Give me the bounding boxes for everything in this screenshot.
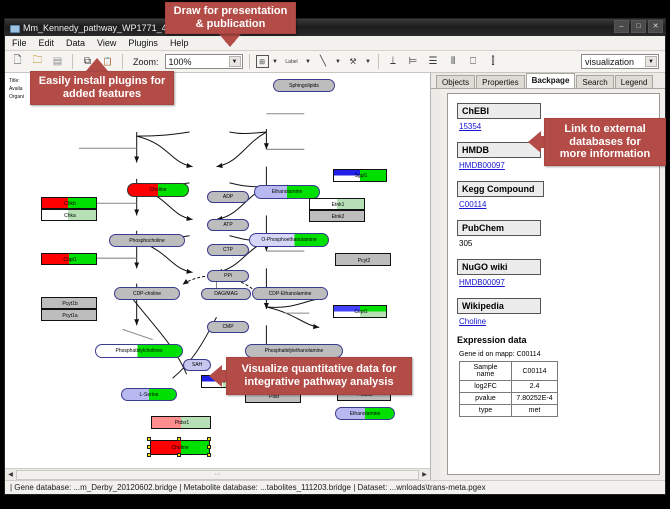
table-row: log2FC 2.4: [460, 381, 558, 393]
backpage-header-pubchem: PubChem: [457, 220, 541, 236]
backpage-header-kegg: Kegg Compound: [457, 181, 544, 197]
backpage-link-kegg[interactable]: C00114: [459, 200, 659, 209]
menu-edit[interactable]: Edit: [37, 38, 57, 48]
selection-handle[interactable]: [177, 437, 181, 441]
title-bar: Mm_Kennedy_pathway_WP1771_45176.gpml – □…: [5, 19, 665, 36]
gene-label: Cept1: [334, 309, 387, 315]
data-node-icon[interactable]: ⊞: [256, 55, 269, 68]
maximize-button[interactable]: □: [631, 20, 646, 33]
backpage-header-chebi: ChEBI: [457, 103, 541, 119]
cell-value: 7.80252E-4: [512, 393, 558, 405]
gene-label: Pcyt1a: [42, 313, 97, 319]
node-o-phosphoethanolamine[interactable]: O-Phosphoethanolamine: [249, 233, 329, 247]
tab-search[interactable]: Search: [576, 75, 613, 88]
node-sphingolipids[interactable]: Sphingolipids: [273, 79, 335, 92]
gene-label: Chka: [42, 213, 97, 219]
menu-help[interactable]: Help: [168, 38, 191, 48]
scroll-right-icon[interactable]: ▶: [419, 469, 430, 480]
node-l-serine-left[interactable]: L-Serine: [121, 388, 177, 401]
table-row: type met: [460, 405, 558, 417]
close-button[interactable]: ✕: [648, 20, 663, 33]
new-icon[interactable]: 🗋: [9, 53, 26, 70]
node-ethanolamine-bottom[interactable]: Ethanolamine: [335, 407, 395, 420]
callout-links: Link to externaldatabases formore inform…: [544, 118, 666, 166]
chevron-down-icon[interactable]: ▼: [305, 59, 312, 65]
node-cmp[interactable]: CMP: [207, 321, 249, 333]
scroll-left-icon[interactable]: ◀: [5, 469, 16, 480]
side-panel-tabs: Objects Properties Backpage Search Legen…: [431, 73, 665, 89]
canvas-info-title: Title:: [9, 78, 20, 84]
common-width-icon[interactable]: ⎕: [465, 53, 482, 70]
gene-etnk2[interactable]: Etnk2: [309, 210, 365, 222]
backpage-value-pubchem: 305: [459, 239, 659, 248]
status-bar: | Gene database: ...m_Derby_20120602.bri…: [5, 480, 665, 494]
gene-label: Chpt1: [42, 257, 97, 263]
node-ppi[interactable]: PPi: [207, 270, 249, 282]
zoom-label: Zoom:: [133, 57, 159, 67]
node-choline-top[interactable]: Choline: [127, 183, 189, 197]
selection-handle[interactable]: [207, 453, 211, 457]
gene-label: Chkb: [42, 201, 97, 207]
chevron-down-icon[interactable]: ▼: [365, 59, 372, 65]
gene-label: Pcyt1b: [42, 301, 97, 307]
chevron-down-icon[interactable]: ▼: [229, 56, 241, 67]
scroll-thumb[interactable]: ⋯: [16, 470, 419, 480]
align-left-icon[interactable]: ⊨: [405, 53, 422, 70]
cell-value: 2.4: [512, 381, 558, 393]
menu-bar: File Edit Data View Plugins Help: [5, 36, 665, 51]
node-sah[interactable]: SAH: [183, 359, 211, 371]
menu-file[interactable]: File: [10, 38, 29, 48]
cell-value: C00114: [512, 362, 558, 381]
gene-label: Ptdsr1: [152, 420, 211, 426]
pathway-canvas[interactable]: Title: Availa Organi Sphingolipids Choli…: [5, 73, 431, 480]
expression-data-title: Expression data: [457, 335, 659, 345]
align-top-icon[interactable]: ⟘: [385, 53, 402, 70]
node-dagmag[interactable]: DAG/MAG: [201, 288, 251, 300]
gene-pcyt1a[interactable]: Pcyt1a: [41, 309, 97, 321]
tab-properties[interactable]: Properties: [476, 75, 524, 88]
zoom-value: 100%: [169, 57, 192, 67]
toolbar-separator: [72, 54, 73, 69]
menu-data[interactable]: Data: [64, 38, 87, 48]
backpage-header-wikipedia: Wikipedia: [457, 298, 541, 314]
node-adp[interactable]: ADP: [207, 191, 249, 203]
window-buttons: – □ ✕: [614, 20, 663, 33]
line-tool[interactable]: ╲: [315, 53, 332, 70]
visualization-select[interactable]: visualization ▼: [581, 54, 659, 69]
node-phosphatidylcholines[interactable]: Phosphatidylcholines: [95, 344, 183, 358]
save-icon[interactable]: ▤: [49, 53, 66, 70]
menu-plugins[interactable]: Plugins: [126, 38, 160, 48]
gene-label: Sgpl1: [334, 173, 387, 179]
app-icon: [9, 23, 19, 33]
selection-handle[interactable]: [147, 453, 151, 457]
cell-key: Sample name: [460, 362, 512, 381]
cell-key: type: [460, 405, 512, 417]
side-panel-splitter[interactable]: [431, 89, 440, 480]
gene-label: Etnk1: [310, 202, 365, 208]
callout-draw: Draw for presentation& publication: [165, 2, 296, 34]
tab-objects[interactable]: Objects: [436, 75, 475, 88]
backpage-link-nugo[interactable]: HMDB00097: [459, 278, 659, 287]
zoom-select[interactable]: 100% ▼: [165, 54, 243, 69]
gene-cept1[interactable]: Cept1: [333, 305, 387, 318]
gene-pcyt1b[interactable]: Pcyt1b: [41, 297, 97, 309]
open-icon[interactable]: 🗀: [29, 53, 46, 70]
table-row: Sample name C00114: [460, 362, 558, 381]
menu-view[interactable]: View: [95, 38, 118, 48]
node-phosphocholine[interactable]: Phosphocholine: [109, 234, 185, 247]
tab-backpage[interactable]: Backpage: [526, 73, 576, 88]
cell-key: log2FC: [460, 381, 512, 393]
selection-handle[interactable]: [207, 437, 211, 441]
node-cdp-choline[interactable]: CDP-choline: [114, 287, 180, 300]
minimize-button[interactable]: –: [614, 20, 629, 33]
gene-sgpl1[interactable]: Sgpl1: [333, 169, 387, 182]
tab-legend[interactable]: Legend: [615, 75, 654, 88]
canvas-hscrollbar[interactable]: ◀ ⋯ ▶: [5, 468, 430, 480]
callout-visualize: Visualize quantitative data forintegrati…: [226, 357, 412, 395]
gene-pcyt2[interactable]: Pcyt2: [335, 253, 391, 266]
gene-label: Etnk2: [310, 214, 365, 220]
toolbar-separator: [249, 54, 250, 69]
table-row: pvalue 7.80252E-4: [460, 393, 558, 405]
gene-etnk1[interactable]: Etnk1: [309, 198, 365, 210]
gene-chka[interactable]: Chka: [41, 209, 97, 221]
toolbar-separator: [378, 54, 379, 69]
visualization-value: visualization: [585, 57, 634, 67]
selection-handle[interactable]: [177, 453, 181, 457]
toolbar-separator: [122, 54, 123, 69]
status-text: | Gene database: ...m_Derby_20120602.bri…: [10, 483, 486, 492]
selection-handle[interactable]: [147, 437, 151, 441]
canvas-info-availability: Availa: [9, 86, 23, 92]
gene-ptdsr1[interactable]: Ptdsr1: [151, 416, 211, 429]
node-cdp-ethanolamine[interactable]: CDP-Ethanolamine: [252, 287, 328, 300]
gene-id-line: Gene id on mapp: C00114: [459, 351, 659, 358]
chevron-down-icon[interactable]: ▼: [272, 59, 279, 65]
cell-value: met: [512, 405, 558, 417]
node-ctp[interactable]: CTP: [207, 244, 249, 256]
node-ethanolamine-top[interactable]: Ethanolamine: [254, 185, 320, 199]
backpage-header-nugo: NuGO wiki: [457, 259, 541, 275]
chevron-down-icon[interactable]: ▼: [645, 56, 657, 67]
gene-chpt1[interactable]: Chpt1: [41, 253, 97, 265]
selection-handle[interactable]: [207, 445, 211, 449]
chevron-down-icon[interactable]: ▼: [335, 59, 342, 65]
node-atp[interactable]: ATP: [207, 219, 249, 231]
node-phosphatidylethanolamine[interactable]: Phosphatidylethanolamine: [245, 344, 343, 358]
distribute-vertical-icon[interactable]: ☰: [425, 53, 442, 70]
callout-plugins: Easily install plugins foradded features: [30, 71, 174, 105]
cell-key: pvalue: [460, 393, 512, 405]
distribute-horizontal-icon[interactable]: ⦀: [445, 53, 462, 70]
expression-data-table: Sample name C00114 log2FC 2.4 pvalue 7.8…: [459, 361, 558, 417]
common-height-icon[interactable]: ⫿: [485, 53, 502, 70]
selection-handle[interactable]: [147, 445, 151, 449]
gene-chkb[interactable]: Chkb: [41, 197, 97, 209]
canvas-info-organism: Organi: [9, 94, 24, 100]
backpage-link-wikipedia[interactable]: Choline: [459, 317, 659, 326]
label-tool[interactable]: Label: [282, 53, 302, 70]
interaction-tool[interactable]: ⚒: [345, 53, 362, 70]
gene-label: Pcyt2: [336, 258, 391, 264]
